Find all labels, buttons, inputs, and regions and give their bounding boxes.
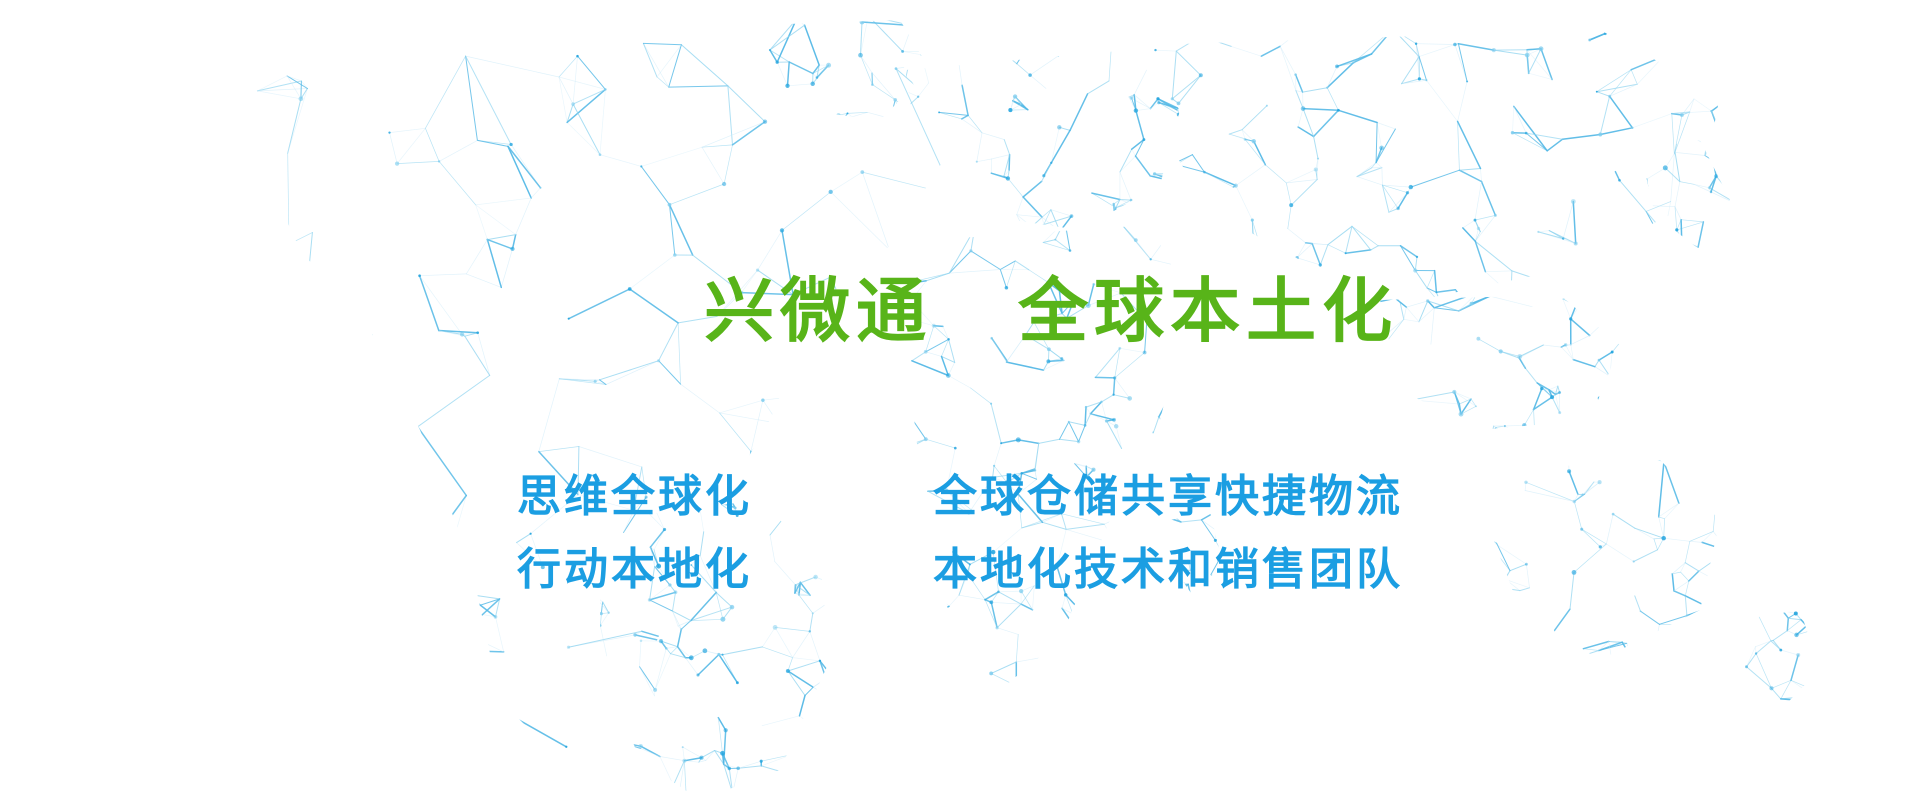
tagline-row: 行动本地化 本地化技术和销售团队 xyxy=(517,545,1403,594)
tagline-row-1-right: 全球仓储共享快捷物流 xyxy=(933,472,1403,521)
hero-banner: 兴微通全球本土化 思维全球化 全球仓储共享快捷物流 行动本地化 本地化技术和销售… xyxy=(0,0,1920,800)
tagline-row-1-left: 思维全球化 xyxy=(517,472,847,521)
headline-part1: 兴微通 xyxy=(704,270,932,352)
tagline-row: 思维全球化 全球仓储共享快捷物流 xyxy=(517,472,1403,521)
tagline-list: 思维全球化 全球仓储共享快捷物流 行动本地化 本地化技术和销售团队 xyxy=(517,472,1403,595)
banner-text-layer: 兴微通全球本土化 思维全球化 全球仓储共享快捷物流 行动本地化 本地化技术和销售… xyxy=(0,0,1920,800)
headline-part2: 全球本土化 xyxy=(1018,270,1398,352)
page-title: 兴微通全球本土化 xyxy=(522,206,1398,416)
tagline-row-2-left: 行动本地化 xyxy=(517,545,847,594)
tagline-row-2-right: 本地化技术和销售团队 xyxy=(933,545,1403,594)
